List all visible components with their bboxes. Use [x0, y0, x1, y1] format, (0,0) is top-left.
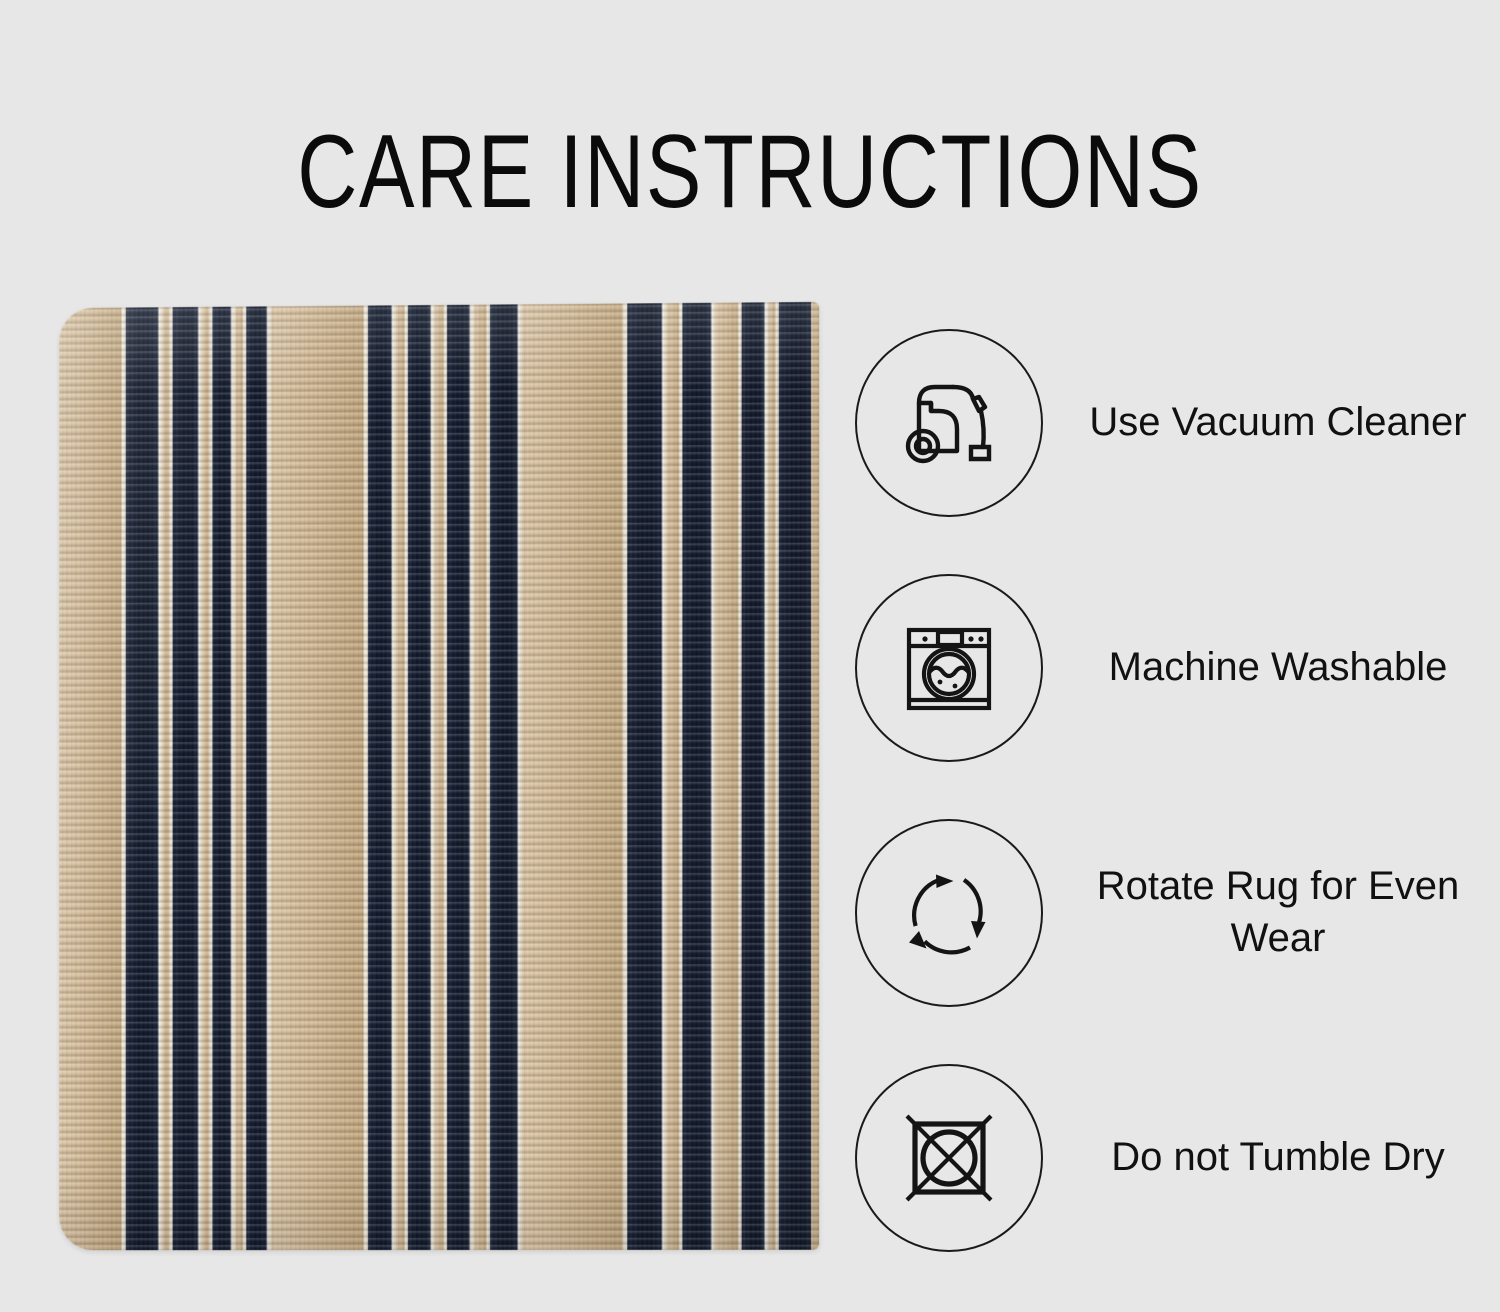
product-image: [58, 305, 818, 1250]
rug-stripe: [447, 302, 470, 1250]
rug-stripe: [173, 302, 198, 1250]
rug-stripe: [474, 302, 487, 1250]
no-tumble-dry-icon: [855, 1064, 1043, 1252]
rug-stripe: [682, 302, 711, 1250]
rug-stripe: [716, 302, 739, 1250]
striped-rug-graphic: [59, 302, 819, 1250]
care-item-vacuum: Use Vacuum Cleaner: [855, 300, 1475, 545]
rug-stripe: [368, 302, 392, 1250]
care-item-no-tumble-dry: Do not Tumble Dry: [855, 1035, 1475, 1280]
rug-stripe: [522, 302, 623, 1250]
rug-stripe: [666, 302, 679, 1250]
rug-stripe: [212, 302, 231, 1250]
care-instructions-page: CARE INSTRUCTIONS: [0, 0, 1500, 1312]
rug-stripe: [126, 302, 158, 1250]
rug-stripe: [408, 302, 431, 1250]
rug-stripe: [742, 302, 765, 1250]
care-item-machine-washable: Machine Washable: [855, 545, 1475, 790]
care-item-label: Use Vacuum Cleaner: [1087, 397, 1475, 448]
care-instructions-list: Use Vacuum Cleaner: [855, 300, 1475, 1280]
care-item-label: Do not Tumble Dry: [1087, 1132, 1475, 1183]
page-title: CARE INSTRUCTIONS: [150, 118, 1350, 227]
rug-stripe: [779, 302, 812, 1250]
vacuum-cleaner-icon: [855, 329, 1043, 517]
rug-stripe: [271, 302, 363, 1250]
rug-stripe: [811, 302, 819, 1250]
rug-stripe: [59, 302, 121, 1250]
care-item-rotate: Rotate Rug for Even Wear: [855, 790, 1475, 1035]
rotate-arrows-icon: [855, 819, 1043, 1007]
care-item-label: Rotate Rug for Even Wear: [1087, 861, 1475, 963]
rug-stripe: [490, 302, 518, 1250]
rug-stripes: [59, 302, 819, 1250]
care-item-label: Machine Washable: [1087, 642, 1475, 693]
washing-machine-icon: [855, 574, 1043, 762]
rug-stripe: [627, 302, 662, 1250]
rug-stripe: [246, 302, 267, 1250]
